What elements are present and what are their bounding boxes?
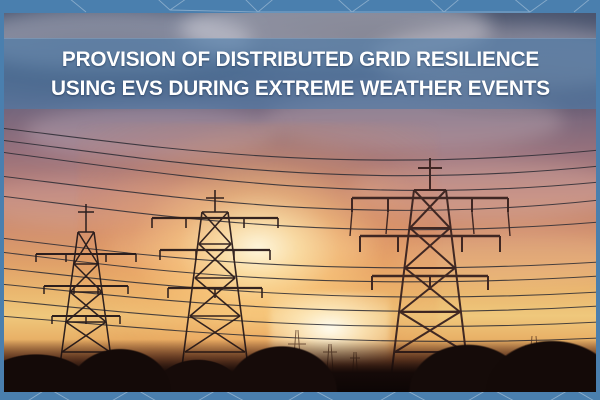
top-accent-bar: [0, 0, 600, 13]
title-overlay-band: PROVISION OF DISTRIBUTED GRID RESILIENCE…: [0, 38, 600, 109]
network-pattern-icon: [0, 0, 600, 13]
page-title: PROVISION OF DISTRIBUTED GRID RESILIENCE…: [41, 45, 559, 102]
right-edge-accent: [596, 0, 600, 400]
network-pattern-icon: [0, 392, 600, 400]
bottom-accent-bar: [0, 392, 600, 400]
treeline-silhouette: [0, 304, 600, 392]
left-edge-accent: [0, 0, 4, 400]
article-hero-banner: PROVISION OF DISTRIBUTED GRID RESILIENCE…: [0, 0, 600, 400]
